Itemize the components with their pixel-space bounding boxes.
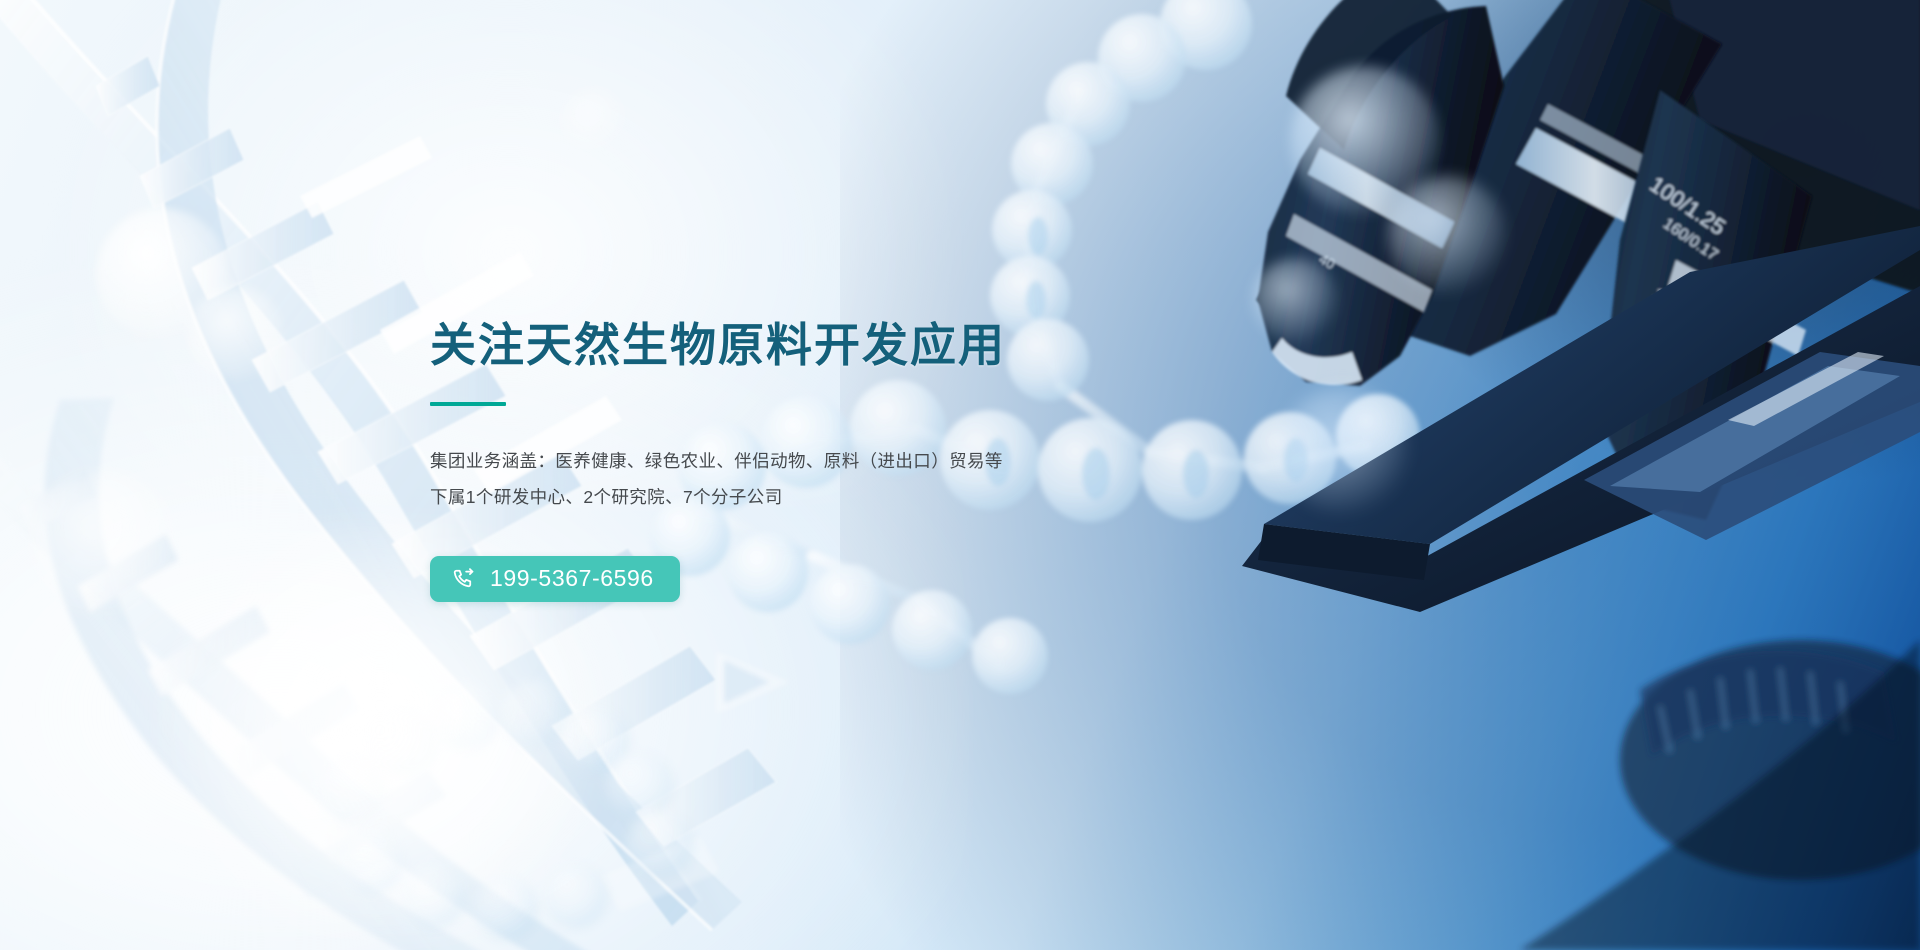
hero-description-line-1: 集团业务涵盖：医养健康、绿色农业、伴侣动物、原料（进出口）贸易等 [430,444,1190,480]
hero-content: 关注天然生物原料开发应用 集团业务涵盖：医养健康、绿色农业、伴侣动物、原料（进出… [430,318,1190,602]
hero-description-line-2: 下属1个研发中心、2个研究院、7个分子公司 [430,480,1190,516]
background-dark-corner [1360,0,1920,480]
phone-cta-button[interactable]: 199-5367-6596 [430,556,680,602]
hero-banner: 40 100/1.25 160/0.17 100 [0,0,1920,950]
headline-underline-rule [430,402,506,406]
hero-description: 集团业务涵盖：医养健康、绿色农业、伴侣动物、原料（进出口）贸易等 下属1个研发中… [430,444,1190,516]
hero-headline: 关注天然生物原料开发应用 [430,318,1190,372]
phone-number-text: 199-5367-6596 [490,567,654,590]
phone-forward-icon [452,567,477,592]
